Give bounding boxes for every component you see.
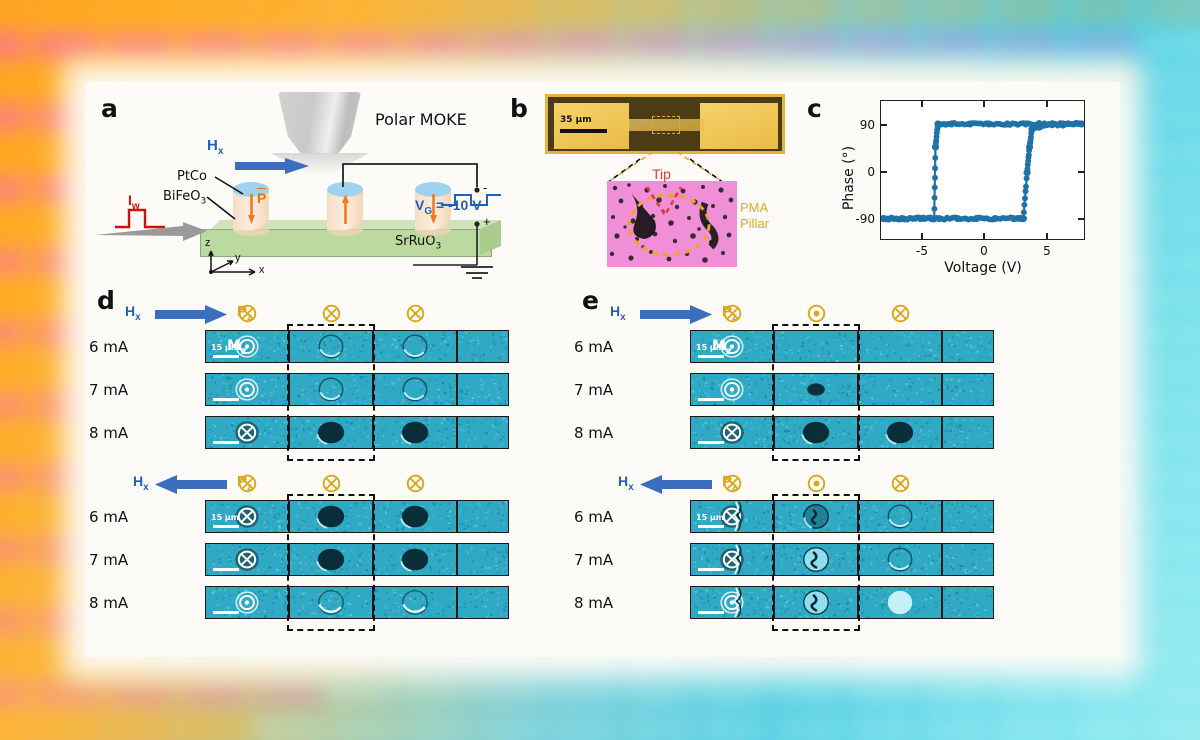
moke-image-cell[interactable]: [942, 373, 994, 406]
moke-image-cell[interactable]: [373, 586, 457, 619]
panel-d-block-hx-left: HxPz6 mA15 µm7 mA8 mA: [85, 472, 555, 627]
current-label-2: 8 mA: [89, 594, 128, 612]
hx-label: Hx: [610, 303, 626, 323]
circuit-minus-sign: -: [483, 180, 487, 195]
hx-label: Hx: [125, 303, 141, 323]
moke-image-cell[interactable]: [774, 500, 858, 533]
pfm-domain-pattern: [607, 181, 737, 267]
moke-image-cell[interactable]: [289, 330, 373, 363]
scale-bar-label: 15 µm: [696, 513, 724, 522]
column-symbol-0-cross-icon: [238, 474, 257, 498]
panel-b-scale-label: 35 µm: [560, 115, 592, 125]
moke-image-cell[interactable]: [457, 543, 509, 576]
axis-x-label: x: [259, 264, 265, 276]
moke-image-cell[interactable]: [205, 373, 289, 406]
moke-image-cell[interactable]: [774, 373, 858, 406]
axis-y-label: y: [235, 252, 241, 264]
moke-image-cell[interactable]: [858, 586, 942, 619]
device-roi-dashed-box: [652, 116, 680, 134]
current-label-1: 7 mA: [574, 381, 613, 399]
moke-image-cell[interactable]: [289, 543, 373, 576]
moke-image-cell[interactable]: [690, 373, 774, 406]
moke-image-cell[interactable]: [457, 586, 509, 619]
chart-plot-area: 90 0 -90 -5 0 5: [880, 100, 1085, 240]
moke-image-cell[interactable]: [457, 330, 509, 363]
moke-image-cell[interactable]: [858, 543, 942, 576]
moke-image-cell[interactable]: [289, 500, 373, 533]
column-symbol-2-cross-icon: [891, 304, 910, 328]
moke-image-cell[interactable]: [457, 500, 509, 533]
current-label-0: 6 mA: [574, 508, 613, 526]
moke-image-cell[interactable]: [942, 330, 994, 363]
scale-bar-label: 15 µm: [211, 513, 239, 522]
bifeo3-label: BiFeO3: [163, 189, 206, 207]
moke-image-cell[interactable]: [289, 586, 373, 619]
hx-label: Hx: [618, 473, 634, 493]
scale-bar: [213, 611, 239, 614]
moke-label: Polar MOKE: [375, 110, 467, 129]
scale-bar: [698, 441, 724, 444]
scale-bar: [698, 568, 724, 571]
scale-bar: [213, 441, 239, 444]
column-symbol-2-cross-icon: [406, 474, 425, 498]
column-symbol-0-cross-icon: [238, 304, 257, 328]
scale-bar: [213, 568, 239, 571]
scale-bar: [698, 611, 724, 614]
polarization-arrow-down-icon: [248, 194, 255, 224]
current-label-2: 8 mA: [89, 424, 128, 442]
panel-b-scale-bar: [560, 129, 607, 133]
panel-e-moke-images: e HxPz6 mA15 µmMz7 mA8 mA HxPz6 mA15 µm7…: [570, 294, 1055, 639]
moke-objective-icon: [278, 92, 361, 154]
pfm-phase-image: [607, 181, 737, 267]
current-label-1: 7 mA: [89, 381, 128, 399]
column-symbol-1-cross-icon: [322, 474, 341, 498]
moke-image-cell[interactable]: [690, 543, 774, 576]
moke-image-cell[interactable]: [690, 586, 774, 619]
moke-image-cell[interactable]: [205, 416, 289, 449]
scale-bar: [213, 398, 239, 401]
current-label-1: 7 mA: [574, 551, 613, 569]
moke-image-cell[interactable]: [942, 500, 994, 533]
moke-image-cell[interactable]: [774, 330, 858, 363]
moke-image-cell[interactable]: [774, 416, 858, 449]
panel-c-letter: c: [807, 96, 822, 121]
moke-image-cell[interactable]: [205, 586, 289, 619]
current-label-2: 8 mA: [574, 424, 613, 442]
moke-image-cell[interactable]: [289, 416, 373, 449]
moke-image-cell[interactable]: [373, 543, 457, 576]
moke-image-cell[interactable]: [858, 373, 942, 406]
panel-b-letter: b: [510, 96, 528, 121]
moke-image-cell[interactable]: [690, 416, 774, 449]
figure-card: a Polar MOKE Hx SrRuO3: [85, 82, 1120, 657]
column-symbol-1-cross-icon: [322, 304, 341, 328]
hx-arrow-right-icon: [640, 304, 712, 325]
moke-image-cell[interactable]: [858, 500, 942, 533]
chart-y-axis-label: Phase (°): [841, 146, 857, 210]
panel-b-device-images: b 35 µm: [500, 82, 795, 287]
hx-arrow-left-icon: [155, 474, 227, 495]
column-symbol-2-cross-icon: [406, 304, 425, 328]
panel-d-moke-images: d HxPz6 mA15 µmMz7 mA8 mA HxPz6 mA15 µm7…: [85, 294, 570, 639]
moke-image-cell[interactable]: [942, 416, 994, 449]
current-label-1: 7 mA: [89, 551, 128, 569]
hx-arrow-left-icon: [640, 474, 712, 495]
axis-z-label: z: [205, 237, 211, 249]
moke-image-cell[interactable]: [373, 373, 457, 406]
moke-image-cell[interactable]: [373, 330, 457, 363]
chart-x-axis-label: Voltage (V): [944, 260, 1021, 276]
gate-voltage-label: VG = -10 V: [415, 197, 482, 217]
moke-image-cell[interactable]: [858, 416, 942, 449]
hx-label: Hx: [133, 473, 149, 493]
column-symbol-0-cross-icon: [723, 304, 742, 328]
moke-image-cell[interactable]: [858, 330, 942, 363]
column-symbol-2-cross-icon: [891, 474, 910, 498]
mz-label: Mz: [712, 338, 732, 357]
moke-image-cell[interactable]: [457, 373, 509, 406]
mz-label: Mz: [227, 338, 247, 357]
moke-image-cell[interactable]: [942, 586, 994, 619]
circuit-plus-sign: +: [483, 214, 491, 229]
panel-e-block-hx-left: HxPz6 mA15 µm7 mA8 mA: [570, 472, 1040, 627]
moke-image-cell[interactable]: [457, 416, 509, 449]
moke-image-cell[interactable]: [205, 543, 289, 576]
column-symbol-0-cross-icon: [723, 474, 742, 498]
current-label-2: 8 mA: [574, 594, 613, 612]
panel-a-schematic: a Polar MOKE Hx SrRuO3: [85, 82, 505, 287]
scale-bar: [213, 525, 239, 528]
panel-a-circuit: [265, 147, 505, 287]
current-direction-arrow-icon: [95, 222, 207, 244]
current-label-0: 6 mA: [89, 338, 128, 356]
moke-image-cell[interactable]: [774, 586, 858, 619]
pma-pillar-label: PMA Pillar: [740, 200, 769, 233]
moke-image-cell[interactable]: [942, 543, 994, 576]
panel-c-hysteresis-chart: c Phase (°) Voltage (V) 90 0 -90 -5 0: [795, 82, 1120, 287]
tip-label: Tip: [652, 166, 671, 182]
moke-image-cell[interactable]: [373, 500, 457, 533]
current-label-0: 6 mA: [89, 508, 128, 526]
panel-d-block-hx-right: HxPz6 mA15 µmMz7 mA8 mA: [85, 302, 555, 457]
hx-arrow-right-icon: [155, 304, 227, 325]
column-symbol-1-dot-icon: [807, 474, 826, 498]
hx-label: Hx: [207, 137, 223, 157]
scale-bar: [698, 398, 724, 401]
current-label-0: 6 mA: [574, 338, 613, 356]
moke-image-cell[interactable]: [774, 543, 858, 576]
column-symbol-1-dot-icon: [807, 304, 826, 328]
ptco-label: PtCo: [177, 169, 207, 184]
scale-bar: [698, 525, 724, 528]
moke-image-cell[interactable]: [289, 373, 373, 406]
hysteresis-loop-data: [881, 101, 1084, 239]
panel-a-letter: a: [101, 96, 118, 121]
moke-image-cell[interactable]: [373, 416, 457, 449]
panel-e-block-hx-right: HxPz6 mA15 µmMz7 mA8 mA: [570, 302, 1040, 457]
